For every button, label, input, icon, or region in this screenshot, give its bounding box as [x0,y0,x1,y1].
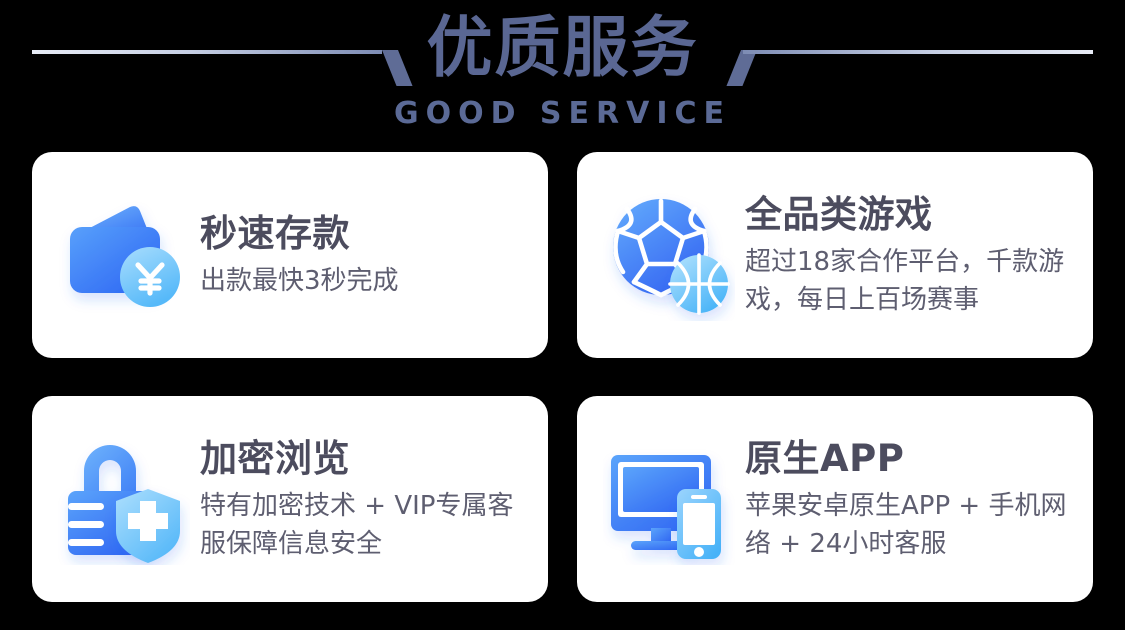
card-description: 超过18家合作平台，千款游戏，每日上百场赛事 [745,243,1079,319]
card-text: 全品类游戏 超过18家合作平台，千款游戏，每日上百场赛事 [745,191,1079,319]
header: 优质服务 GOOD SERVICE [0,0,1125,146]
card-text: 秒速存款 出款最快3秒完成 [200,210,534,300]
feature-card-deposit[interactable]: 秒速存款 出款最快3秒完成 [32,152,548,358]
soccer-basketball-icon [603,189,735,321]
page-subtitle: GOOD SERVICE [0,96,1125,132]
card-description: 出款最快3秒完成 [200,262,534,300]
card-description: 特有加密技术 + VIP专属客服保障信息安全 [200,487,534,563]
page-title: 优质服务 [0,6,1125,90]
card-title: 秒速存款 [200,210,534,258]
card-text: 原生APP 苹果安卓原生APP + 手机网络 + 24小时客服 [745,435,1079,563]
wallet-yen-icon [58,189,190,321]
card-title: 全品类游戏 [745,191,1079,239]
feature-card-encryption[interactable]: 加密浏览 特有加密技术 + VIP专属客服保障信息安全 [32,396,548,602]
lock-shield-icon [58,433,190,565]
card-title: 原生APP [745,435,1079,483]
feature-card-native-app[interactable]: 原生APP 苹果安卓原生APP + 手机网络 + 24小时客服 [577,396,1093,602]
card-description: 苹果安卓原生APP + 手机网络 + 24小时客服 [745,487,1079,563]
feature-card-games[interactable]: 全品类游戏 超过18家合作平台，千款游戏，每日上百场赛事 [577,152,1093,358]
feature-card-grid: 秒速存款 出款最快3秒完成 [32,152,1093,601]
monitor-phone-icon [603,433,735,565]
card-text: 加密浏览 特有加密技术 + VIP专属客服保障信息安全 [200,435,534,563]
card-title: 加密浏览 [200,435,534,483]
promo-banner: 优质服务 GOOD SERVICE [0,0,1125,630]
